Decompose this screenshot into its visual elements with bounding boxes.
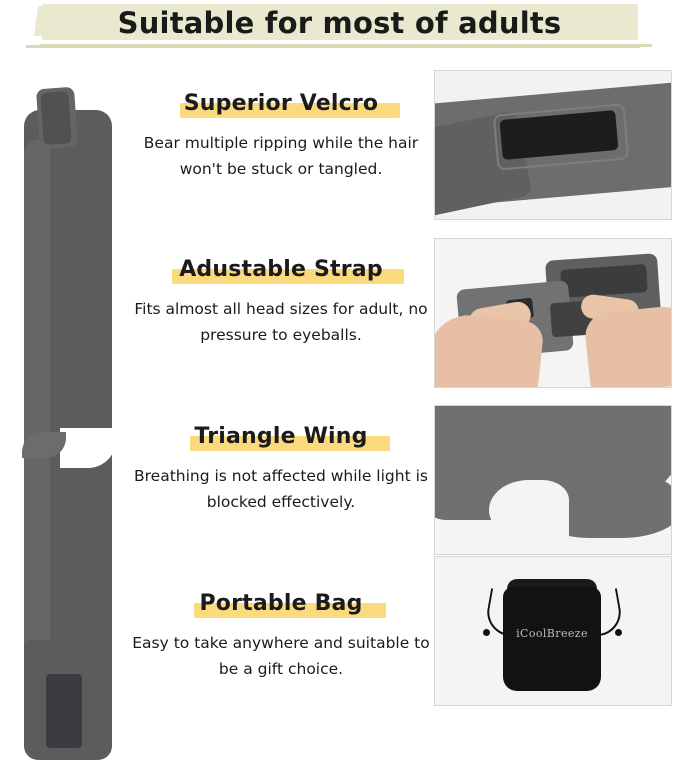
drawstring-knot-right <box>615 629 622 636</box>
mask-strap-inner <box>40 91 72 145</box>
feature-block-velcro: Superior Velcro Bear multiple ripping wh… <box>132 86 430 182</box>
feature-title: Triangle Wing <box>194 424 367 449</box>
left-hand <box>434 311 545 388</box>
feature-description: Bear multiple ripping while the hair won… <box>132 130 430 182</box>
portable-bag-photo: iCoolBreeze <box>434 556 672 706</box>
right-hand <box>583 303 672 388</box>
mask-velcro-patch <box>46 674 82 748</box>
header-underline <box>40 44 640 48</box>
feature-block-strap: Adustable Strap Fits almost all head siz… <box>132 252 430 348</box>
feature-title: Superior Velcro <box>184 91 378 116</box>
product-image <box>10 70 130 690</box>
strap-slot-upper <box>560 264 648 298</box>
adjustable-strap-photo <box>434 238 672 388</box>
feature-description: Easy to take anywhere and suitable to be… <box>132 630 430 682</box>
feature-title: Portable Bag <box>199 591 362 616</box>
feature-title-highlight: Triangle Wing <box>132 419 430 453</box>
feature-title-highlight: Superior Velcro <box>132 86 430 120</box>
feature-block-portable-bag: Portable Bag Easy to take anywhere and s… <box>132 586 430 682</box>
page-header: Suitable for most of adults <box>0 0 679 52</box>
bag-brand-text: iCoolBreeze <box>503 627 601 640</box>
feature-title: Adustable Strap <box>179 257 383 282</box>
feature-description: Fits almost all head sizes for adult, no… <box>132 296 430 348</box>
nose-cutout <box>489 480 569 540</box>
triangle-wing-photo <box>434 405 672 555</box>
feature-block-triangle-wing: Triangle Wing Breathing is not affected … <box>132 419 430 515</box>
mask-left-shade <box>24 140 50 680</box>
eye-mask-illustration <box>16 80 120 690</box>
drawstring-knot-left <box>483 629 490 636</box>
page-title: Suitable for most of adults <box>0 0 679 46</box>
feature-title-highlight: Portable Bag <box>132 586 430 620</box>
velcro-closeup-photo <box>434 70 672 220</box>
feature-title-highlight: Adustable Strap <box>132 252 430 286</box>
feature-description: Breathing is not affected while light is… <box>132 463 430 515</box>
